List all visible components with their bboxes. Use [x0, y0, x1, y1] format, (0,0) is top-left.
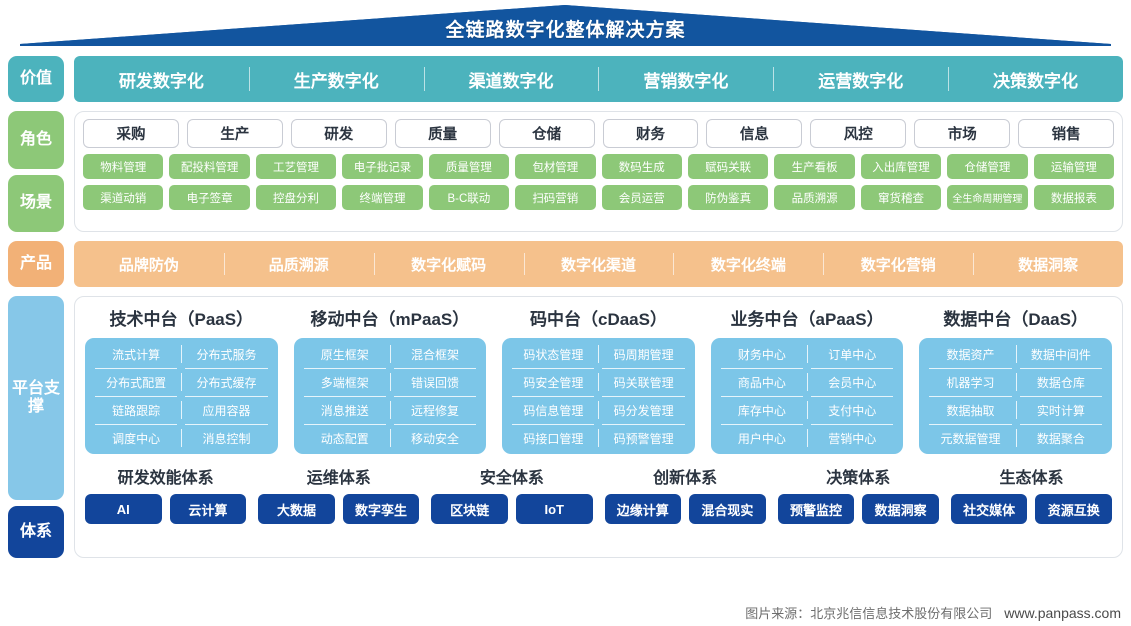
- system-chip[interactable]: 混合现实: [689, 494, 766, 524]
- system-chip[interactable]: 资源互换: [1035, 494, 1112, 524]
- role-scene-row: 角色 场景 采购 生产 研发 质量 仓储 财务 信息 风控 市场 销售 物料管理…: [0, 111, 1131, 232]
- system-column: 运维体系 大数据 数字孪生: [258, 464, 419, 524]
- platform-tag: 平台支撑: [8, 296, 64, 500]
- system-column-title: 创新体系: [653, 464, 717, 488]
- platform-cell[interactable]: 码安全管理: [508, 368, 598, 396]
- product-item[interactable]: 数据洞察: [973, 254, 1123, 275]
- system-chips: 大数据 数字孪生: [258, 494, 419, 524]
- platform-column-title: 业务中台（aPaaS）: [711, 305, 904, 330]
- system-chips: 预警监控 数据洞察: [778, 494, 939, 524]
- role-chip[interactable]: 生产: [187, 119, 283, 148]
- banner-title: 全链路数字化整体解决方案: [0, 15, 1131, 42]
- system-chip[interactable]: 云计算: [170, 494, 247, 524]
- platform-cell[interactable]: 错误回馈: [390, 368, 480, 396]
- system-chip[interactable]: 区块链: [431, 494, 508, 524]
- platform-system-row: 平台支撑 体系 技术中台（PaaS） 流式计算 分布式服务 分布式配置 分布式缓…: [0, 296, 1131, 558]
- product-item[interactable]: 品牌防伪: [74, 254, 224, 275]
- system-chip[interactable]: 边缘计算: [605, 494, 682, 524]
- platform-cell[interactable]: 多端框架: [300, 368, 390, 396]
- role-chip[interactable]: 信息: [706, 119, 802, 148]
- platform-cell[interactable]: 财务中心: [717, 340, 807, 368]
- platform-column-title: 移动中台（mPaaS）: [294, 305, 487, 330]
- platform-cell[interactable]: 消息推送: [300, 396, 390, 424]
- system-tag: 体系: [8, 506, 64, 558]
- scene-chip[interactable]: 生产看板: [774, 154, 854, 179]
- platform-grid: 码状态管理 码周期管理 码安全管理 码关联管理 码信息管理 码分发管理 码接口管…: [502, 338, 695, 454]
- platform-tag-label: 平台支撑: [8, 380, 64, 416]
- banner: 全链路数字化整体解决方案: [0, 0, 1131, 50]
- platform-cell[interactable]: 分布式配置: [91, 368, 181, 396]
- platform-area: 技术中台（PaaS） 流式计算 分布式服务 分布式配置 分布式缓存 链路跟踪 应…: [85, 305, 1112, 454]
- role-chip[interactable]: 风控: [810, 119, 906, 148]
- diagram-root: 全链路数字化整体解决方案 价值 研发数字化 生产数字化 渠道数字化 营销数字化 …: [0, 0, 1131, 626]
- value-row: 价值 研发数字化 生产数字化 渠道数字化 营销数字化 运营数字化 决策数字化: [0, 56, 1131, 102]
- scene-chip[interactable]: B-C联动: [429, 185, 509, 210]
- scene-chip[interactable]: 电子签章: [169, 185, 249, 210]
- value-item[interactable]: 营销数字化: [598, 67, 773, 92]
- platform-system-tags: 平台支撑 体系: [8, 296, 64, 558]
- platform-cell[interactable]: 码关联管理: [598, 368, 688, 396]
- platform-column: 数据中台（DaaS） 数据资产 数据中间件 机器学习 数据仓库 数据抽取 实时计…: [919, 305, 1112, 454]
- system-chip[interactable]: 数据洞察: [862, 494, 939, 524]
- scene-chip[interactable]: 窜货稽查: [861, 185, 941, 210]
- scene-line-1: 物料管理 配投料管理 工艺管理 电子批记录 质量管理 包材管理 数码生成 赋码关…: [83, 154, 1114, 179]
- platform-cell[interactable]: 链路跟踪: [91, 396, 181, 424]
- platform-cell[interactable]: 数据仓库: [1016, 368, 1106, 396]
- scene-chip[interactable]: 终端管理: [342, 185, 422, 210]
- value-item[interactable]: 研发数字化: [74, 67, 249, 92]
- platform-cell[interactable]: 数据中间件: [1016, 340, 1106, 368]
- platform-cell[interactable]: 混合框架: [390, 340, 480, 368]
- platform-cell[interactable]: 远程修复: [390, 396, 480, 424]
- scene-chip[interactable]: 包材管理: [515, 154, 595, 179]
- scene-chip[interactable]: 物料管理: [83, 154, 163, 179]
- platform-cell[interactable]: 数据资产: [925, 340, 1015, 368]
- role-chip[interactable]: 财务: [603, 119, 699, 148]
- platform-column: 业务中台（aPaaS） 财务中心 订单中心 商品中心 会员中心 库存中心 支付中…: [711, 305, 904, 454]
- system-chips: 边缘计算 混合现实: [605, 494, 766, 524]
- value-item[interactable]: 渠道数字化: [424, 67, 599, 92]
- platform-cell[interactable]: 动态配置: [300, 424, 390, 452]
- platform-cell[interactable]: 码信息管理: [508, 396, 598, 424]
- value-item[interactable]: 决策数字化: [948, 67, 1123, 92]
- value-item[interactable]: 生产数字化: [249, 67, 424, 92]
- system-chips: AI 云计算: [85, 494, 246, 524]
- role-scene-tags: 角色 场景: [8, 111, 64, 232]
- platform-cell[interactable]: 应用容器: [181, 396, 271, 424]
- value-item[interactable]: 运营数字化: [773, 67, 948, 92]
- platform-cell[interactable]: 实时计算: [1016, 396, 1106, 424]
- scene-line-2: 渠道动销 电子签章 控盘分利 终端管理 B-C联动 扫码营销 会员运营 防伪鉴真…: [83, 185, 1114, 210]
- platform-grid: 流式计算 分布式服务 分布式配置 分布式缓存 链路跟踪 应用容器 调度中心 消息…: [85, 338, 278, 454]
- platform-column-title: 数据中台（DaaS）: [919, 305, 1112, 330]
- scene-chip[interactable]: 数据报表: [1034, 185, 1114, 210]
- system-column: 研发效能体系 AI 云计算: [85, 464, 246, 524]
- platform-column-title: 技术中台（PaaS）: [85, 305, 278, 330]
- footer-source: 图片来源：北京兆信信息技术股份有限公司: [745, 603, 992, 622]
- role-scene-panel: 采购 生产 研发 质量 仓储 财务 信息 风控 市场 销售 物料管理 配投料管理…: [74, 111, 1123, 232]
- platform-cell[interactable]: 码周期管理: [598, 340, 688, 368]
- platform-grid: 数据资产 数据中间件 机器学习 数据仓库 数据抽取 实时计算 元数据管理 数据聚…: [919, 338, 1112, 454]
- scene-chip[interactable]: 全生命周期管理: [947, 185, 1027, 210]
- platform-cell[interactable]: 元数据管理: [925, 424, 1015, 452]
- system-column: 安全体系 区块链 IoT: [431, 464, 592, 524]
- role-tag: 角色: [8, 111, 64, 169]
- role-chip[interactable]: 采购: [83, 119, 179, 148]
- system-chip[interactable]: AI: [85, 494, 162, 524]
- platform-cell[interactable]: 码接口管理: [508, 424, 598, 452]
- scene-chip[interactable]: 品质溯源: [774, 185, 854, 210]
- scene-chip[interactable]: 赋码关联: [688, 154, 768, 179]
- platform-grid: 财务中心 订单中心 商品中心 会员中心 库存中心 支付中心 用户中心 营销中心: [711, 338, 904, 454]
- role-chip[interactable]: 研发: [291, 119, 387, 148]
- value-tag: 价值: [8, 56, 64, 102]
- platform-cell[interactable]: 原生框架: [300, 340, 390, 368]
- platform-cell[interactable]: 数据抽取: [925, 396, 1015, 424]
- scene-chip[interactable]: 数码生成: [602, 154, 682, 179]
- platform-cell[interactable]: 营销中心: [807, 424, 897, 452]
- platform-cell[interactable]: 调度中心: [91, 424, 181, 452]
- system-column-title: 研发效能体系: [118, 464, 214, 488]
- platform-cell[interactable]: 订单中心: [807, 340, 897, 368]
- system-chip[interactable]: 预警监控: [778, 494, 855, 524]
- scene-chip[interactable]: 渠道动销: [83, 185, 163, 210]
- scene-chip[interactable]: 电子批记录: [342, 154, 422, 179]
- system-area: 研发效能体系 AI 云计算 运维体系 大数据 数字孪生 安全体系: [85, 464, 1112, 524]
- system-column-title: 决策体系: [826, 464, 890, 488]
- system-chips: 社交媒体 资源互换: [951, 494, 1112, 524]
- platform-cell[interactable]: 分布式服务: [181, 340, 271, 368]
- product-item[interactable]: 数字化营销: [823, 254, 973, 275]
- scene-chip[interactable]: 扫码营销: [515, 185, 595, 210]
- platform-cell[interactable]: 库存中心: [717, 396, 807, 424]
- product-item[interactable]: 数字化赋码: [374, 254, 524, 275]
- scene-chip[interactable]: 控盘分利: [256, 185, 336, 210]
- platform-cell[interactable]: 支付中心: [807, 396, 897, 424]
- system-column-title: 生态体系: [999, 464, 1063, 488]
- role-line: 采购 生产 研发 质量 仓储 财务 信息 风控 市场 销售: [83, 119, 1114, 148]
- platform-column: 技术中台（PaaS） 流式计算 分布式服务 分布式配置 分布式缓存 链路跟踪 应…: [85, 305, 278, 454]
- role-chip[interactable]: 销售: [1018, 119, 1114, 148]
- product-item[interactable]: 数字化终端: [673, 254, 823, 275]
- system-column-title: 运维体系: [307, 464, 371, 488]
- system-chip[interactable]: IoT: [516, 494, 593, 524]
- scene-tag: 场景: [8, 175, 64, 233]
- product-bar: 品牌防伪 品质溯源 数字化赋码 数字化渠道 数字化终端 数字化营销 数据洞察: [74, 241, 1123, 287]
- system-column: 生态体系 社交媒体 资源互换: [951, 464, 1112, 524]
- platform-cell[interactable]: 数据聚合: [1016, 424, 1106, 452]
- scene-chip[interactable]: 运输管理: [1034, 154, 1114, 179]
- product-item[interactable]: 品质溯源: [224, 254, 374, 275]
- footer: 图片来源：北京兆信信息技术股份有限公司 www.panpass.com: [745, 603, 1121, 622]
- scene-chip[interactable]: 防伪鉴真: [688, 185, 768, 210]
- scene-chip[interactable]: 仓储管理: [947, 154, 1027, 179]
- platform-cell[interactable]: 分布式缓存: [181, 368, 271, 396]
- platform-cell[interactable]: 会员中心: [807, 368, 897, 396]
- platform-cell[interactable]: 码分发管理: [598, 396, 688, 424]
- product-tag: 产品: [8, 241, 64, 287]
- system-chip[interactable]: 社交媒体: [951, 494, 1028, 524]
- platform-column-title: 码中台（cDaaS）: [502, 305, 695, 330]
- system-chips: 区块链 IoT: [431, 494, 592, 524]
- value-bar: 研发数字化 生产数字化 渠道数字化 营销数字化 运营数字化 决策数字化: [74, 56, 1123, 102]
- platform-cell[interactable]: 机器学习: [925, 368, 1015, 396]
- product-item[interactable]: 数字化渠道: [524, 254, 674, 275]
- scene-chip[interactable]: 入出库管理: [861, 154, 941, 179]
- platform-column: 移动中台（mPaaS） 原生框架 混合框架 多端框架 错误回馈 消息推送 远程修…: [294, 305, 487, 454]
- footer-site[interactable]: www.panpass.com: [1004, 605, 1121, 621]
- system-chip[interactable]: 大数据: [258, 494, 335, 524]
- system-chip[interactable]: 数字孪生: [343, 494, 420, 524]
- platform-cell[interactable]: 商品中心: [717, 368, 807, 396]
- platform-cell[interactable]: 流式计算: [91, 340, 181, 368]
- scene-chip[interactable]: 工艺管理: [256, 154, 336, 179]
- platform-cell[interactable]: 移动安全: [390, 424, 480, 452]
- system-column: 创新体系 边缘计算 混合现实: [605, 464, 766, 524]
- scene-chip[interactable]: 会员运营: [602, 185, 682, 210]
- system-column: 决策体系 预警监控 数据洞察: [778, 464, 939, 524]
- scene-chip[interactable]: 质量管理: [429, 154, 509, 179]
- product-row: 产品 品牌防伪 品质溯源 数字化赋码 数字化渠道 数字化终端 数字化营销 数据洞…: [0, 241, 1131, 287]
- platform-cell[interactable]: 用户中心: [717, 424, 807, 452]
- role-chip[interactable]: 市场: [914, 119, 1010, 148]
- platform-column: 码中台（cDaaS） 码状态管理 码周期管理 码安全管理 码关联管理 码信息管理…: [502, 305, 695, 454]
- system-column-title: 安全体系: [480, 464, 544, 488]
- role-chip[interactable]: 质量: [395, 119, 491, 148]
- scene-chip[interactable]: 配投料管理: [169, 154, 249, 179]
- platform-grid: 原生框架 混合框架 多端框架 错误回馈 消息推送 远程修复 动态配置 移动安全: [294, 338, 487, 454]
- platform-cell[interactable]: 码预警管理: [598, 424, 688, 452]
- role-chip[interactable]: 仓储: [499, 119, 595, 148]
- platform-cell[interactable]: 码状态管理: [508, 340, 598, 368]
- platform-cell[interactable]: 消息控制: [181, 424, 271, 452]
- platform-system-panel: 技术中台（PaaS） 流式计算 分布式服务 分布式配置 分布式缓存 链路跟踪 应…: [74, 296, 1123, 558]
